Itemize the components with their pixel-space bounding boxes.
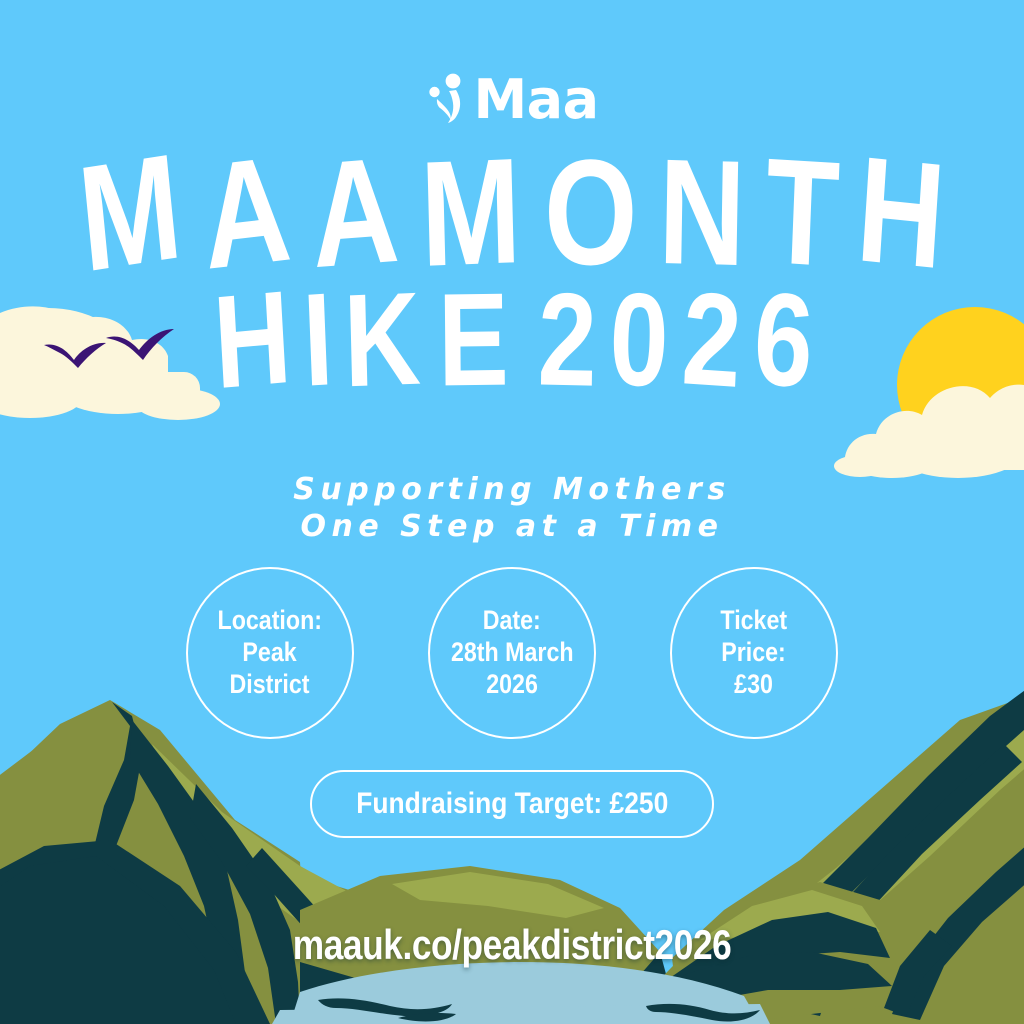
info-circle-line: 2026 (486, 669, 538, 701)
poster-canvas: Maa MAAMONTH HIKE 2026 Supporting Mother… (0, 0, 1024, 1024)
brand-logo[interactable]: Maa (0, 66, 1024, 130)
info-circle-date: Date:28th March2026 (428, 567, 596, 739)
headline-letter (517, 283, 529, 397)
info-circle-line: Ticket (721, 605, 788, 637)
info-circle-ticket: TicketPrice:£30 (670, 567, 838, 739)
headline-letter: A (199, 144, 293, 282)
headline-line-1: MAAMONTH (0, 148, 1024, 277)
headline-letter: N (658, 147, 745, 278)
headline-letter: H (854, 144, 947, 281)
brand-wordmark: Maa (473, 73, 598, 127)
info-circle-line: £30 (735, 669, 774, 701)
tagline-line-1: Supporting Mothers (0, 472, 1024, 509)
event-url-text: maauk.co/peakdistrict2026 (293, 921, 732, 969)
info-circle-location: Location:PeakDistrict (186, 567, 354, 739)
info-circle-line: Date: (483, 605, 541, 637)
page-title: MAAMONTH HIKE 2026 (0, 148, 1024, 397)
info-circle-line: Location: (218, 605, 322, 637)
info-circle-line: District (230, 669, 310, 701)
info-circle-line: Price: (722, 637, 787, 669)
headline-letter: H (212, 280, 293, 400)
headline-letter: 6 (751, 281, 814, 399)
info-circle-group: Location:PeakDistrictDate:28th March2026… (0, 567, 1024, 739)
headline-letter: 2 (680, 281, 742, 398)
headline-letter: E (437, 283, 507, 397)
headline-letter: 2 (537, 282, 596, 397)
headline-letter: I (301, 282, 333, 397)
headline-letter: M (419, 146, 521, 279)
headline-letter: O (544, 148, 636, 278)
headline-letter: K (343, 282, 420, 398)
fundraising-target-badge: Fundraising Target: £250 (310, 770, 714, 838)
event-url[interactable]: maauk.co/peakdistrict2026 (0, 921, 1024, 969)
info-circle-line: 28th March (451, 637, 574, 669)
headline-line-2: HIKE 2026 (0, 283, 1024, 397)
tagline: Supporting Mothers One Step at a Time (0, 472, 1024, 545)
headline-letter: T (763, 146, 840, 279)
fundraising-target-label: Fundraising Target: £250 (356, 787, 668, 821)
maa-figure-icon (425, 72, 469, 124)
tagline-line-2: One Step at a Time (0, 509, 1024, 546)
info-circle-line: Peak (243, 637, 297, 669)
headline-letter: M (74, 141, 184, 284)
headline-letter: A (308, 145, 399, 280)
headline-letter: 0 (608, 282, 668, 398)
